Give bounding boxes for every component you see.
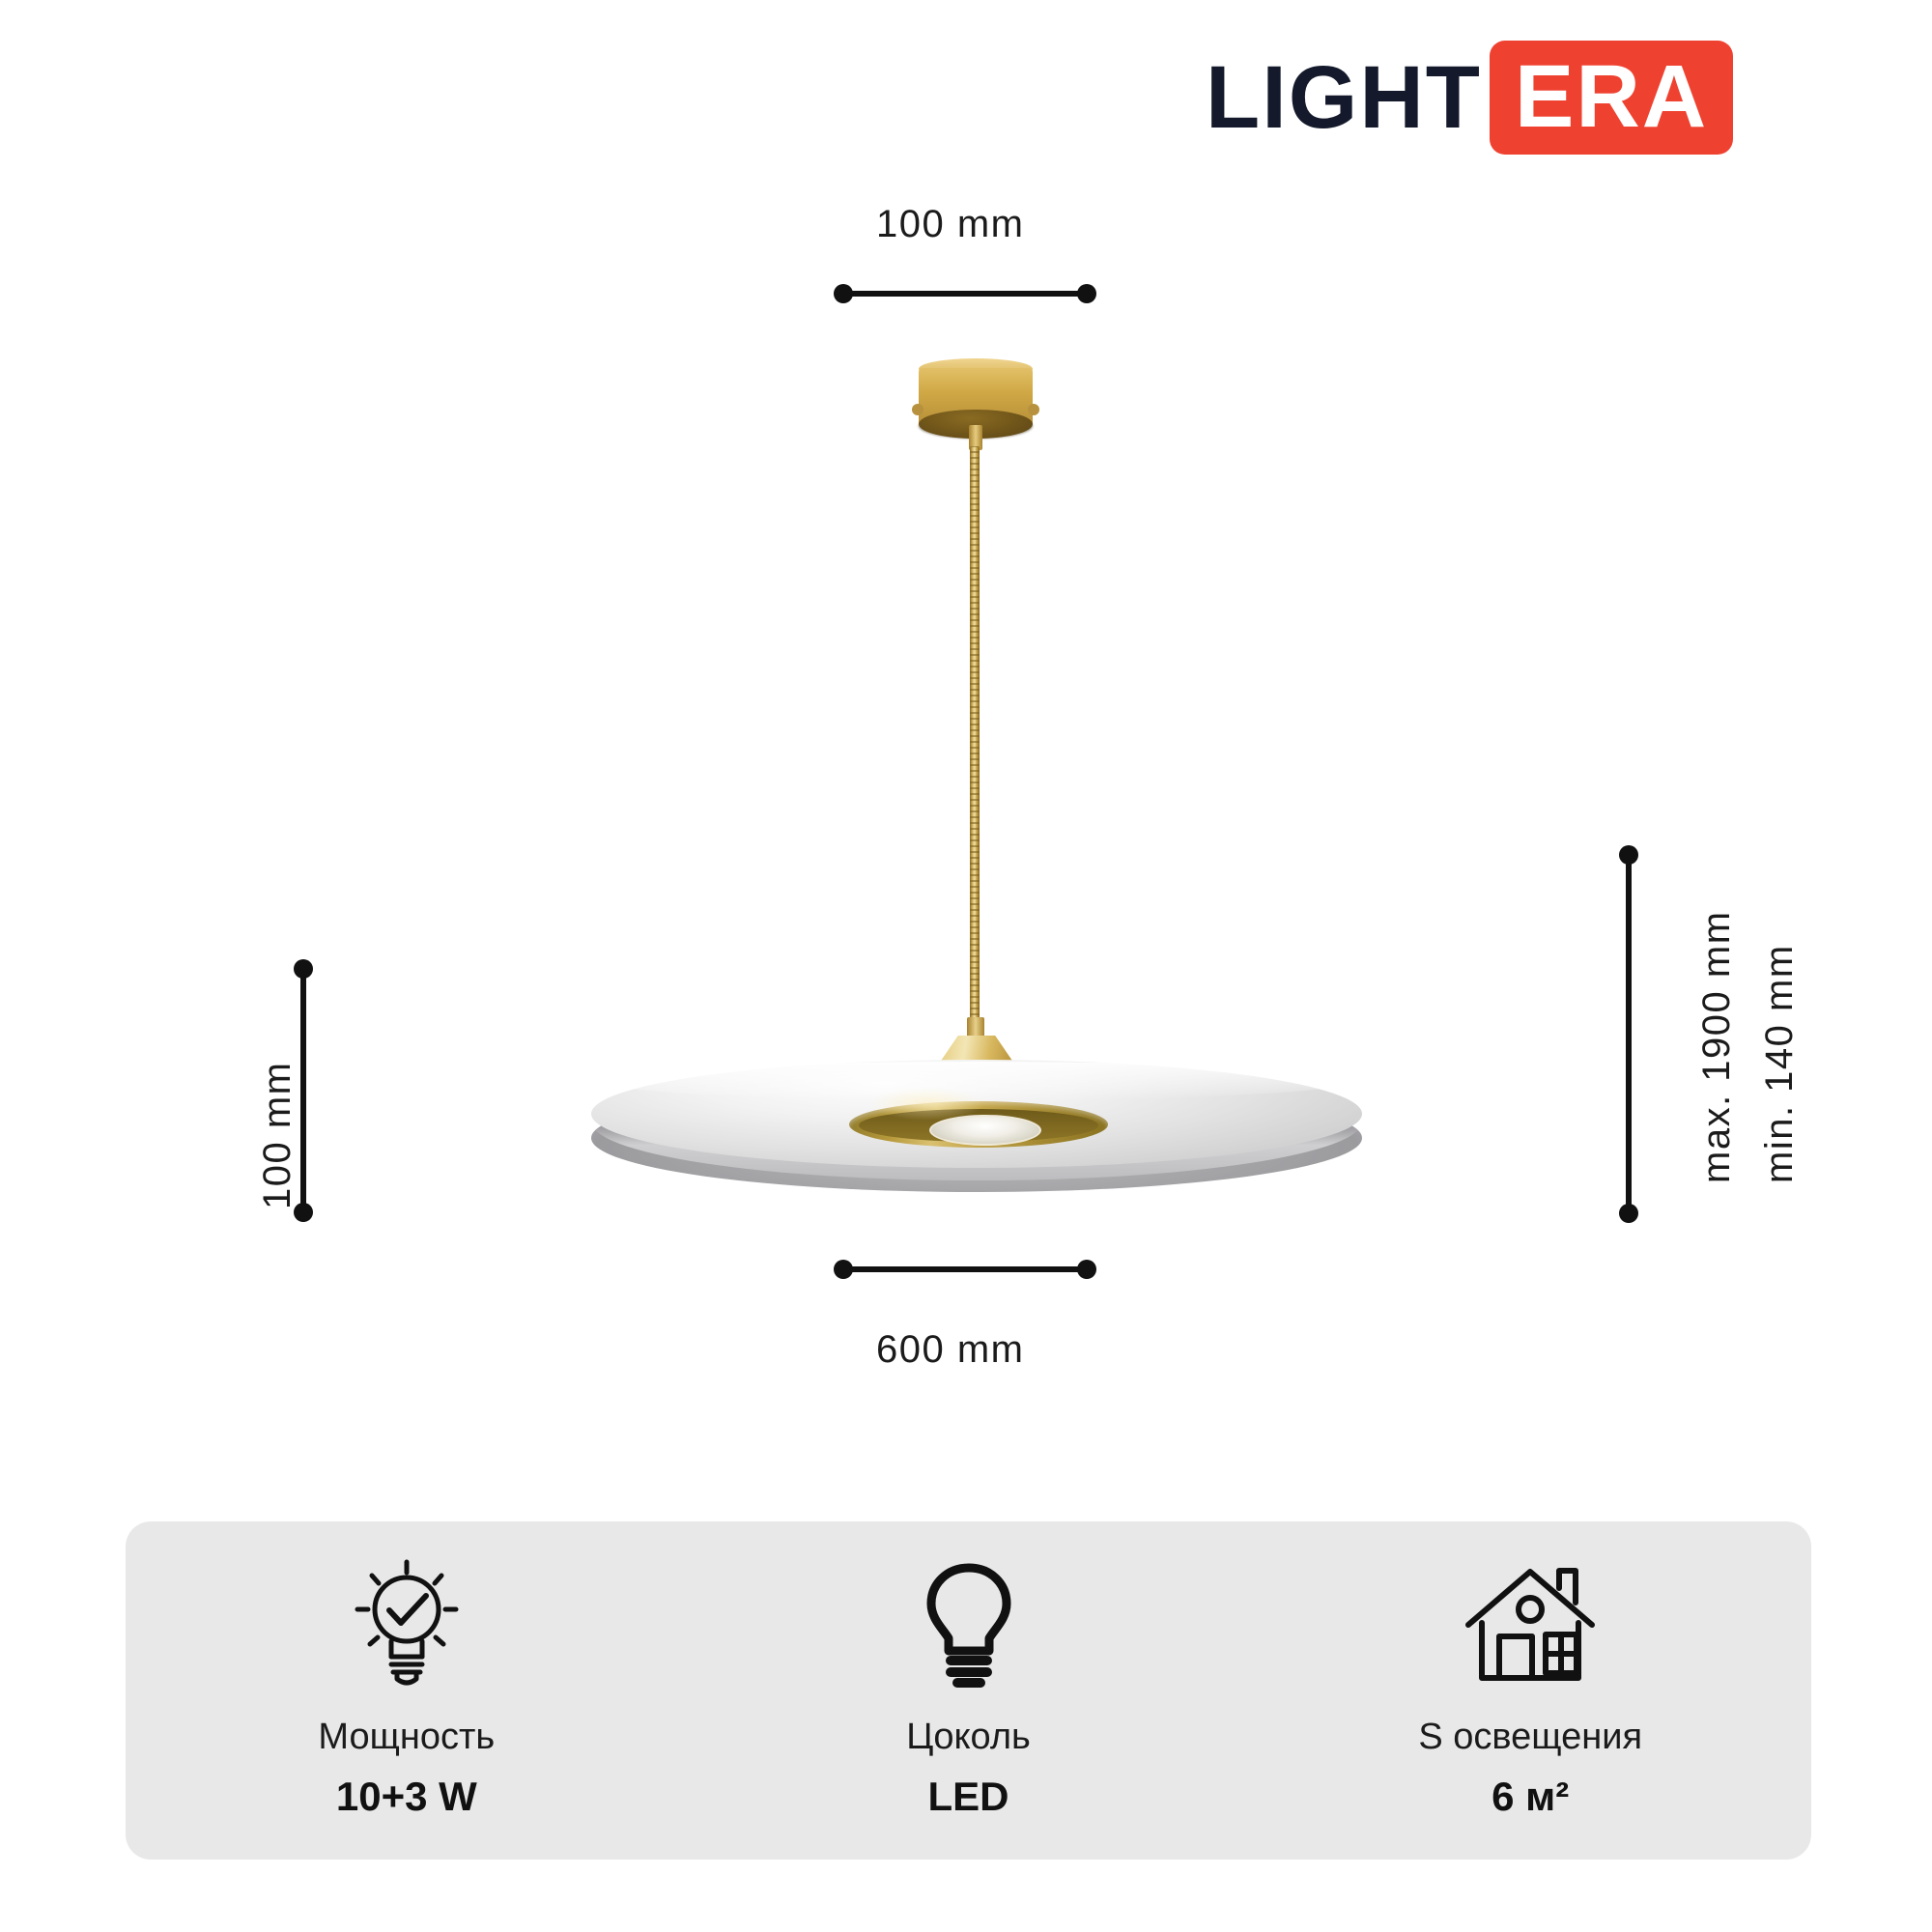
dimension-line-shade-width [842,1266,1086,1272]
dimension-label-suspension-min: min. 140 mm [1758,944,1802,1183]
dimension-label-shade-height: 100 mm [256,1062,299,1210]
dimension-line-suspension [1626,854,1632,1211]
spec-value-area: 6 м² [1492,1772,1569,1823]
spec-item-area: S освещения 6 м² [1249,1559,1811,1823]
spec-value-socket: LED [928,1772,1009,1823]
dimension-line-shade-height [300,968,306,1211]
spec-label-socket: Цоколь [906,1715,1031,1761]
bulb-check-icon [343,1559,470,1690]
dimension-endpoint-suspension-top [1619,845,1638,865]
dimension-label-shade-width: 600 mm [876,1328,1025,1372]
dimension-endpoint-width-right [1077,1260,1096,1279]
spec-item-socket: Цоколь LED [688,1559,1250,1823]
dimension-endpoint-width-left [834,1260,853,1279]
spec-panel: Мощность 10+3 W Цоколь LED [126,1521,1811,1860]
product-spec-sheet: LIGHT ERA 100 mm 100 mm max [0,0,1932,1932]
house-icon [1463,1559,1598,1690]
dimension-endpoint-suspension-bottom [1619,1204,1638,1223]
bulb-icon [921,1559,1017,1690]
dimension-label-suspension-max: max. 1900 mm [1695,910,1739,1183]
spec-value-power: 10+3 W [336,1772,477,1823]
suspension-cord [970,446,980,1021]
shade-rim-highlight [597,1062,1356,1100]
shade-hub-stem [967,1017,984,1038]
canopy-screw-right [1028,404,1039,415]
spec-item-power: Мощность 10+3 W [126,1559,688,1823]
dimension-endpoint-top [294,959,313,979]
spec-label-power: Мощность [318,1715,495,1761]
led-lens [929,1115,1041,1146]
canopy-screw-left [912,404,923,415]
spec-label-area: S освещения [1418,1715,1642,1761]
